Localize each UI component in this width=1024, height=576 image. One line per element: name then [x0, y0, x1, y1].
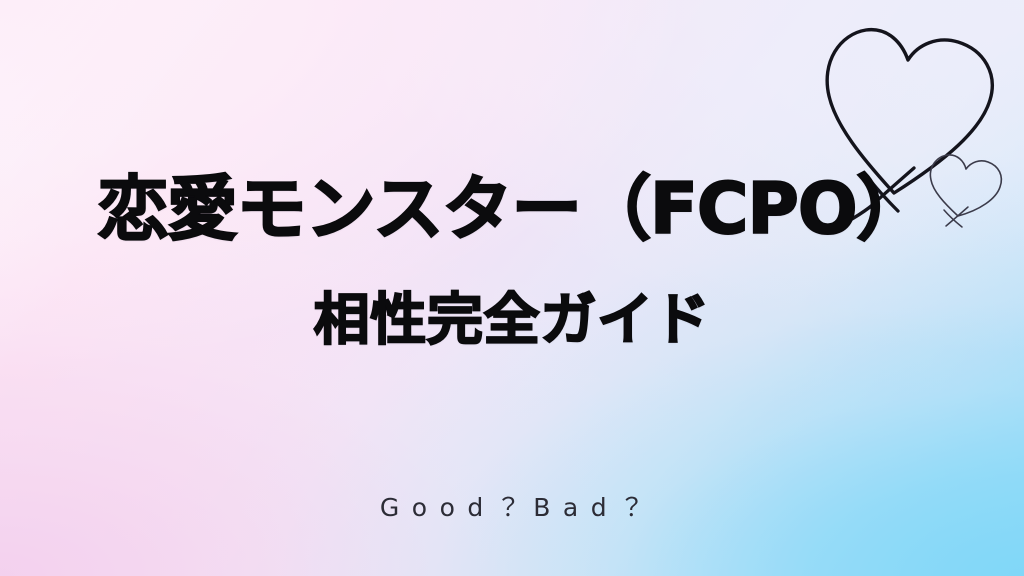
thumbnail-canvas: 恋愛モンスター（FCPO） 相性完全ガイド Good？Bad？ [0, 0, 1024, 576]
tagline-text: Good？Bad？ [0, 493, 1024, 523]
page-title-sub: 相性完全ガイド [0, 290, 1024, 352]
text-content: 恋愛モンスター（FCPO） 相性完全ガイド Good？Bad？ [0, 0, 1024, 576]
page-title-main: 恋愛モンスター（FCPO） [0, 172, 1024, 248]
